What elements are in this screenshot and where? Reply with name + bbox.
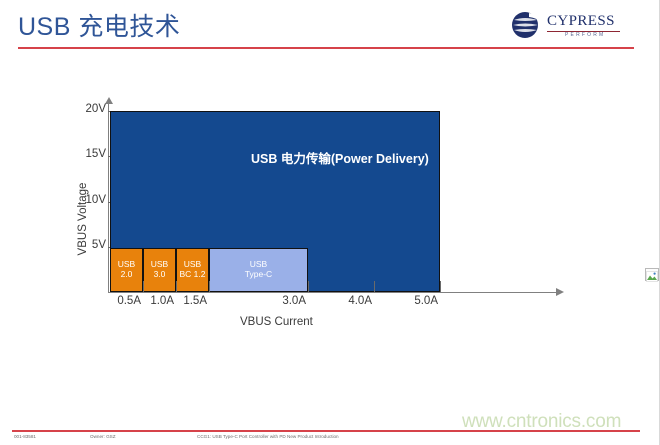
x-tick-label: 1.5A (165, 295, 207, 307)
page-title: USB 充电技术 (18, 7, 180, 43)
x-tick (209, 281, 210, 292)
y-axis-line (108, 103, 109, 293)
y-tick-label: 20V (62, 103, 106, 115)
cypress-globe-icon (510, 9, 544, 41)
region-usb-type-c: USBType-C (209, 248, 308, 292)
region-label: USBBC 1.2 (180, 260, 206, 280)
region-label: USB 3.0 (144, 260, 175, 280)
x-axis-arrow (556, 288, 564, 296)
region-label: USB 2.0 (111, 260, 142, 280)
broken-image-icon (645, 268, 659, 281)
region-usb-bc-1-2: USBBC 1.2 (176, 248, 209, 292)
cypress-logo: CYPRESS PERFORM (510, 8, 630, 44)
title-divider (18, 47, 634, 49)
slide-header: USB 充电技术 CYPRESS PERFORM (0, 0, 660, 52)
footer-doc-number: 001-83581 (14, 434, 36, 439)
x-tick (176, 281, 177, 292)
x-tick-label: 3.0A (264, 295, 306, 307)
y-axis-arrow (105, 97, 113, 104)
region-label: USBType-C (245, 260, 272, 280)
x-tick-label: 4.0A (330, 295, 372, 307)
y-tick-label: 5V (62, 239, 106, 251)
footer-divider (12, 430, 640, 432)
x-axis-line (108, 292, 558, 293)
footer-owner: Owner: GSZ (90, 434, 116, 439)
region-usb-2-0: USB 2.0 (110, 248, 143, 292)
x-tick (308, 281, 309, 292)
y-axis-label: VBUS Voltage (77, 159, 89, 279)
y-tick-label: 15V (62, 148, 106, 160)
footer-title: CCG1: USB Type-C Port Controller with PD… (197, 434, 339, 439)
y-tick-label: 10V (62, 194, 106, 206)
x-tick (374, 281, 375, 292)
x-tick (143, 281, 144, 292)
x-tick (440, 281, 441, 292)
x-axis-label: VBUS Current (240, 316, 313, 328)
cypress-tagline: PERFORM (565, 32, 605, 38)
region-power-delivery-label: USB 电力传输(Power Delivery) (251, 148, 429, 167)
usb-charging-chart: VBUS Voltage 5V10V15V20V USB 电力传输(Power … (40, 95, 580, 335)
slide-canvas: USB 充电技术 CYPRESS PERFORM VBUS Voltage 5V… (0, 0, 660, 445)
cypress-wordmark: CYPRESS (547, 13, 615, 30)
x-tick-label: 5.0A (396, 295, 438, 307)
region-usb-3-0: USB 3.0 (143, 248, 176, 292)
